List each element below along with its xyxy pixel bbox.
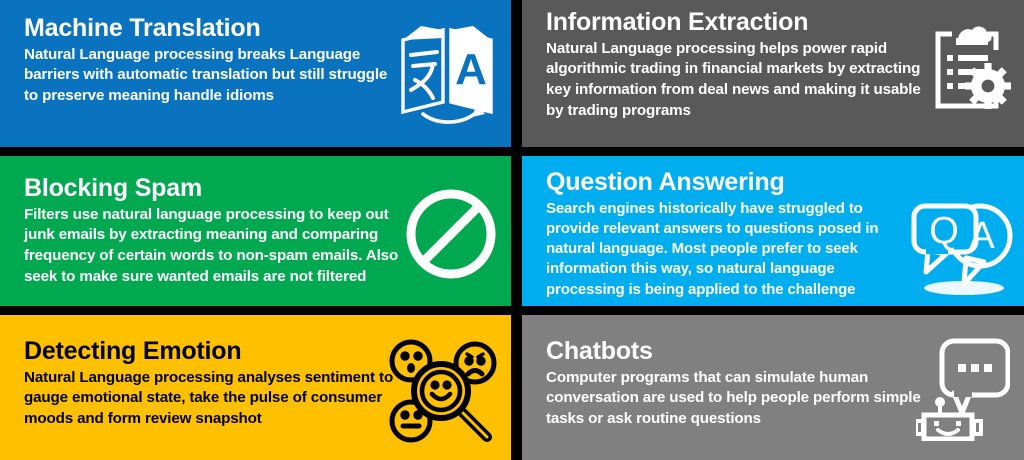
panel-description: Natural Language processing helps power … [546, 39, 930, 123]
panel-chatbots: Chatbots Computer programs that can simu… [522, 315, 1024, 460]
panel-description: Natural Language processing analyses sen… [24, 368, 396, 431]
qa-speech-bubbles-icon: Q A [908, 196, 1018, 296]
translate-icon: A [393, 22, 501, 126]
qa-icon-question-letter: Q [929, 210, 959, 252]
panel-information-extraction: Information Extraction Natural Language … [522, 0, 1024, 147]
panel-detecting-emotion: Detecting Emotion Natural Language proce… [0, 315, 511, 460]
panel-blocking-spam: Blocking Spam Filters use natural langua… [0, 156, 511, 306]
panel-description: Search engines historically have struggl… [546, 199, 894, 300]
qa-icon-answer-letter: A [969, 215, 995, 257]
clipboard-gear-icon [930, 24, 1014, 112]
emotion-faces-magnifier-icon [385, 335, 497, 447]
panel-machine-translation: Machine Translation Natural Language pro… [0, 0, 511, 147]
panel-description: Computer programs that can simulate huma… [546, 368, 936, 431]
no-entry-icon [405, 188, 497, 280]
translate-icon-letter: A [455, 45, 487, 94]
panel-description: Filters use natural language processing … [24, 205, 402, 289]
panel-description: Natural Language processing breaks Langu… [24, 45, 396, 108]
panel-title: Question Answering [546, 168, 1016, 198]
chatbot-robot-icon [916, 323, 1010, 441]
panel-question-answering: Question Answering Search engines histor… [522, 156, 1024, 306]
nlp-applications-infographic: Machine Translation Natural Language pro… [0, 0, 1024, 460]
